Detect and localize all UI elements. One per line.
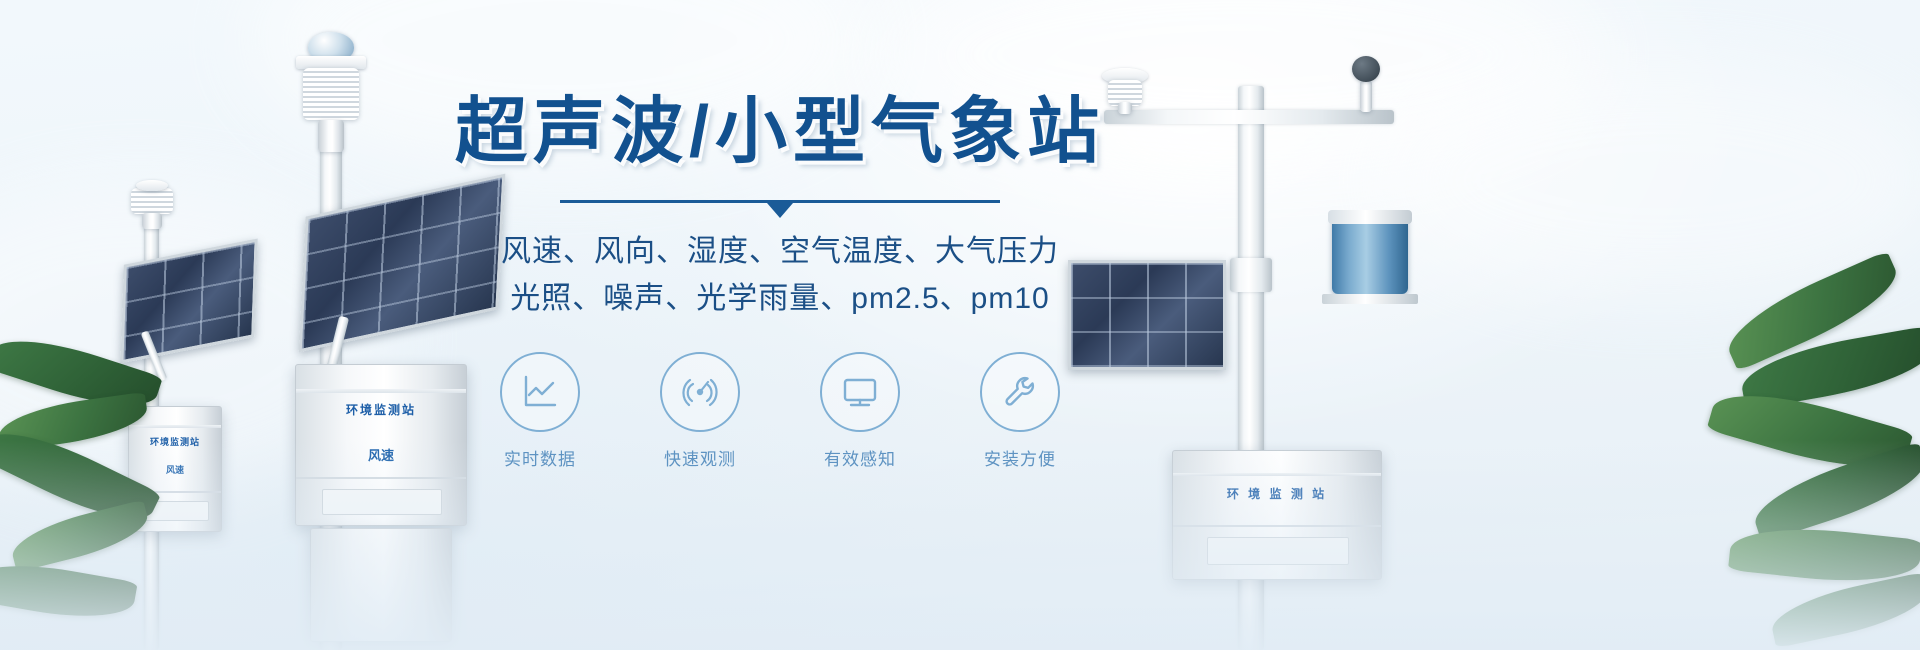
- rain-gauge: [1328, 210, 1414, 328]
- feature-item-fast-observation[interactable]: 快速观测: [646, 352, 754, 470]
- cloud-decoration: [1380, 60, 1920, 300]
- wrench-icon: [980, 352, 1060, 432]
- subtitle-line-1: 风速、风向、湿度、空气温度、大气压力: [430, 229, 1130, 276]
- radiation-shield: [303, 68, 359, 120]
- title-divider: [560, 200, 1000, 203]
- feature-label: 快速观测: [646, 445, 754, 470]
- feature-list: 实时数据 快速观测: [430, 352, 1130, 470]
- feature-item-realtime-data[interactable]: 实时数据: [486, 352, 594, 470]
- subtitle-line-2: 光照、噪声、光学雨量、pm2.5、pm10: [430, 276, 1130, 323]
- page-title: 超声波/小型气象站: [430, 96, 1130, 168]
- radar-signal-icon: [660, 352, 740, 432]
- monitor-icon: [820, 352, 900, 432]
- feature-item-easy-installation[interactable]: 安装方便: [966, 352, 1074, 470]
- feature-label: 有效感知: [806, 445, 914, 470]
- feature-label: 安装方便: [966, 445, 1074, 470]
- bottom-haze: [0, 440, 1920, 650]
- line-chart-icon: [500, 352, 580, 432]
- banner-content: 超声波/小型气象站 风速、风向、湿度、空气温度、大气压力 光照、噪声、光学雨量、…: [430, 96, 1130, 470]
- feature-item-effective-sensing[interactable]: 有效感知: [806, 352, 914, 470]
- feature-label: 实时数据: [486, 445, 594, 470]
- product-banner: 环境监测站 风速 环境监测站 风速: [0, 0, 1920, 650]
